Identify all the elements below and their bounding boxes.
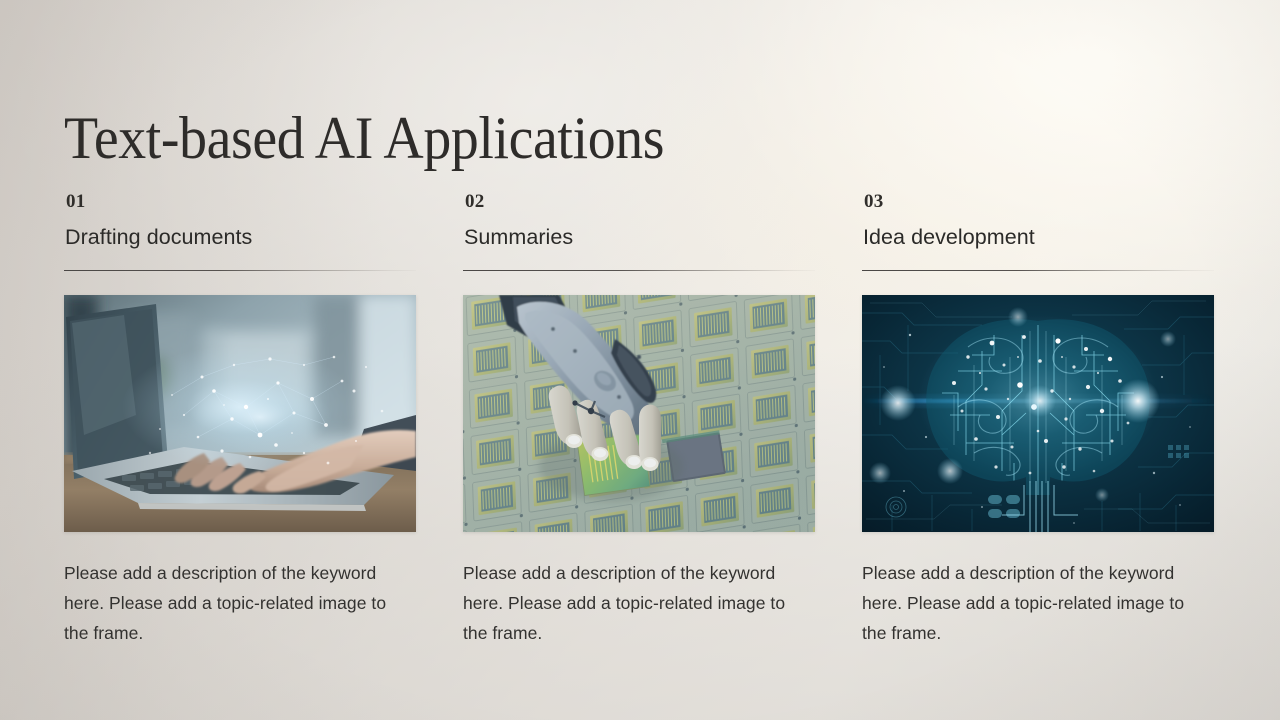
column-heading: Idea development: [863, 225, 1214, 251]
column-number: 01: [66, 192, 416, 211]
columns-container: 01 Drafting documents: [64, 192, 1213, 648]
laptop-typing-illustration: [64, 295, 416, 532]
figure-glowing-circuit-board-brain: [862, 295, 1214, 532]
column-heading: Summaries: [464, 225, 815, 251]
column-body-text: Please add a description of the keyword …: [862, 558, 1194, 648]
column-divider: [463, 270, 815, 271]
column-02: 02 Summaries: [463, 192, 815, 648]
column-01: 01 Drafting documents: [64, 192, 416, 648]
column-heading: Drafting documents: [65, 225, 416, 251]
ai-brain-circuit-illustration: [862, 295, 1214, 532]
figure-robotic-hand-picking-silicon-chip: [463, 295, 815, 532]
slide-canvas: Text-based AI Applications 01 Drafting d…: [0, 0, 1280, 720]
page-title: Text-based AI Applications: [64, 106, 664, 171]
robot-hand-wafer-illustration: [463, 295, 815, 532]
column-03: 03 Idea development: [862, 192, 1214, 648]
figure-hands-typing-on-laptop-with-data-particles: [64, 295, 416, 532]
column-body-text: Please add a description of the keyword …: [64, 558, 396, 648]
column-body-text: Please add a description of the keyword …: [463, 558, 795, 648]
column-divider: [862, 270, 1214, 271]
column-number: 03: [864, 192, 1214, 211]
column-number: 02: [465, 192, 815, 211]
column-divider: [64, 270, 416, 271]
